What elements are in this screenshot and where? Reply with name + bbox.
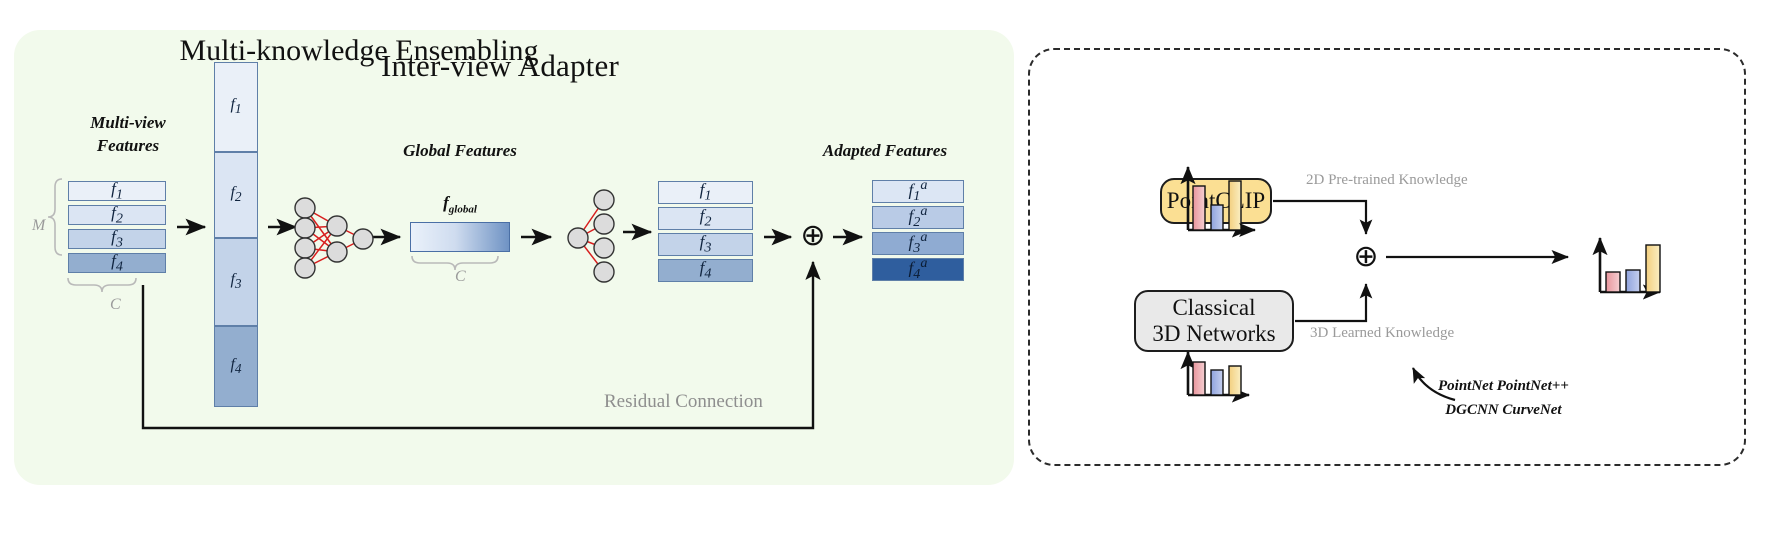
- brace-label-c-global: C: [455, 268, 466, 286]
- concatenated-feature-column: f1 f2 f3 f4: [214, 62, 258, 407]
- model-list-line1: PointNet PointNet++: [1438, 374, 1569, 398]
- multi-knowledge-ensembling-panel: [1028, 48, 1746, 466]
- edge-label-3d-knowledge: 3D Learned Knowledge: [1310, 325, 1454, 342]
- decoded-block-1: f1: [658, 181, 753, 204]
- multi-view-block-2: f2: [68, 205, 166, 225]
- sum-operator-right: ⊕: [1350, 241, 1382, 273]
- adapted-block-3: f3a: [872, 232, 964, 255]
- model-list-line2: DGCNN CurveNet: [1438, 398, 1569, 422]
- pointclip-box[interactable]: PointCLIP: [1160, 178, 1272, 224]
- edge-label-2d-knowledge: 2D Pre-trained Knowledge: [1306, 172, 1468, 189]
- classical-label-line1: Classical: [1152, 295, 1275, 321]
- brace-label-m: M: [32, 217, 45, 235]
- f-global-label: fglobal: [404, 192, 516, 217]
- multi-view-features-label: Multi-view Features: [48, 112, 208, 158]
- multi-view-block-1: f1: [68, 181, 166, 201]
- adapted-block-2: f2a: [872, 206, 964, 229]
- adapted-block-4: f4a: [872, 258, 964, 281]
- decoded-block-4: f4: [658, 259, 753, 282]
- global-feature-bar: [410, 222, 510, 252]
- classical-3d-networks-box[interactable]: Classical 3D Networks: [1134, 290, 1294, 352]
- pointclip-label: PointCLIP: [1167, 188, 1265, 214]
- concat-cell-3: f3: [214, 238, 258, 326]
- residual-connection-label: Residual Connection: [604, 391, 763, 413]
- multi-view-block-4: f4: [68, 253, 166, 273]
- brace-label-c-left: C: [110, 296, 121, 314]
- global-features-label: Global Features: [380, 140, 540, 163]
- page-title-multi-knowledge: Multi-knowledge Ensembling: [0, 34, 718, 68]
- multi-view-block-3: f3: [68, 229, 166, 249]
- classical-label-line2: 3D Networks: [1152, 321, 1275, 347]
- decoded-block-2: f2: [658, 207, 753, 230]
- concat-cell-2: f2: [214, 152, 258, 238]
- sum-operator-left: ⊕: [798, 221, 828, 251]
- adapted-features-label: Adapted Features: [800, 140, 970, 163]
- adapted-block-1: f1a: [872, 180, 964, 203]
- concat-cell-4: f4: [214, 326, 258, 407]
- concat-cell-1: f1: [214, 62, 258, 152]
- model-list: PointNet PointNet++ DGCNN CurveNet: [1438, 374, 1569, 422]
- figure-canvas: Inter-view Adapter Multi-view Features G…: [0, 0, 1766, 550]
- decoded-block-3: f3: [658, 233, 753, 256]
